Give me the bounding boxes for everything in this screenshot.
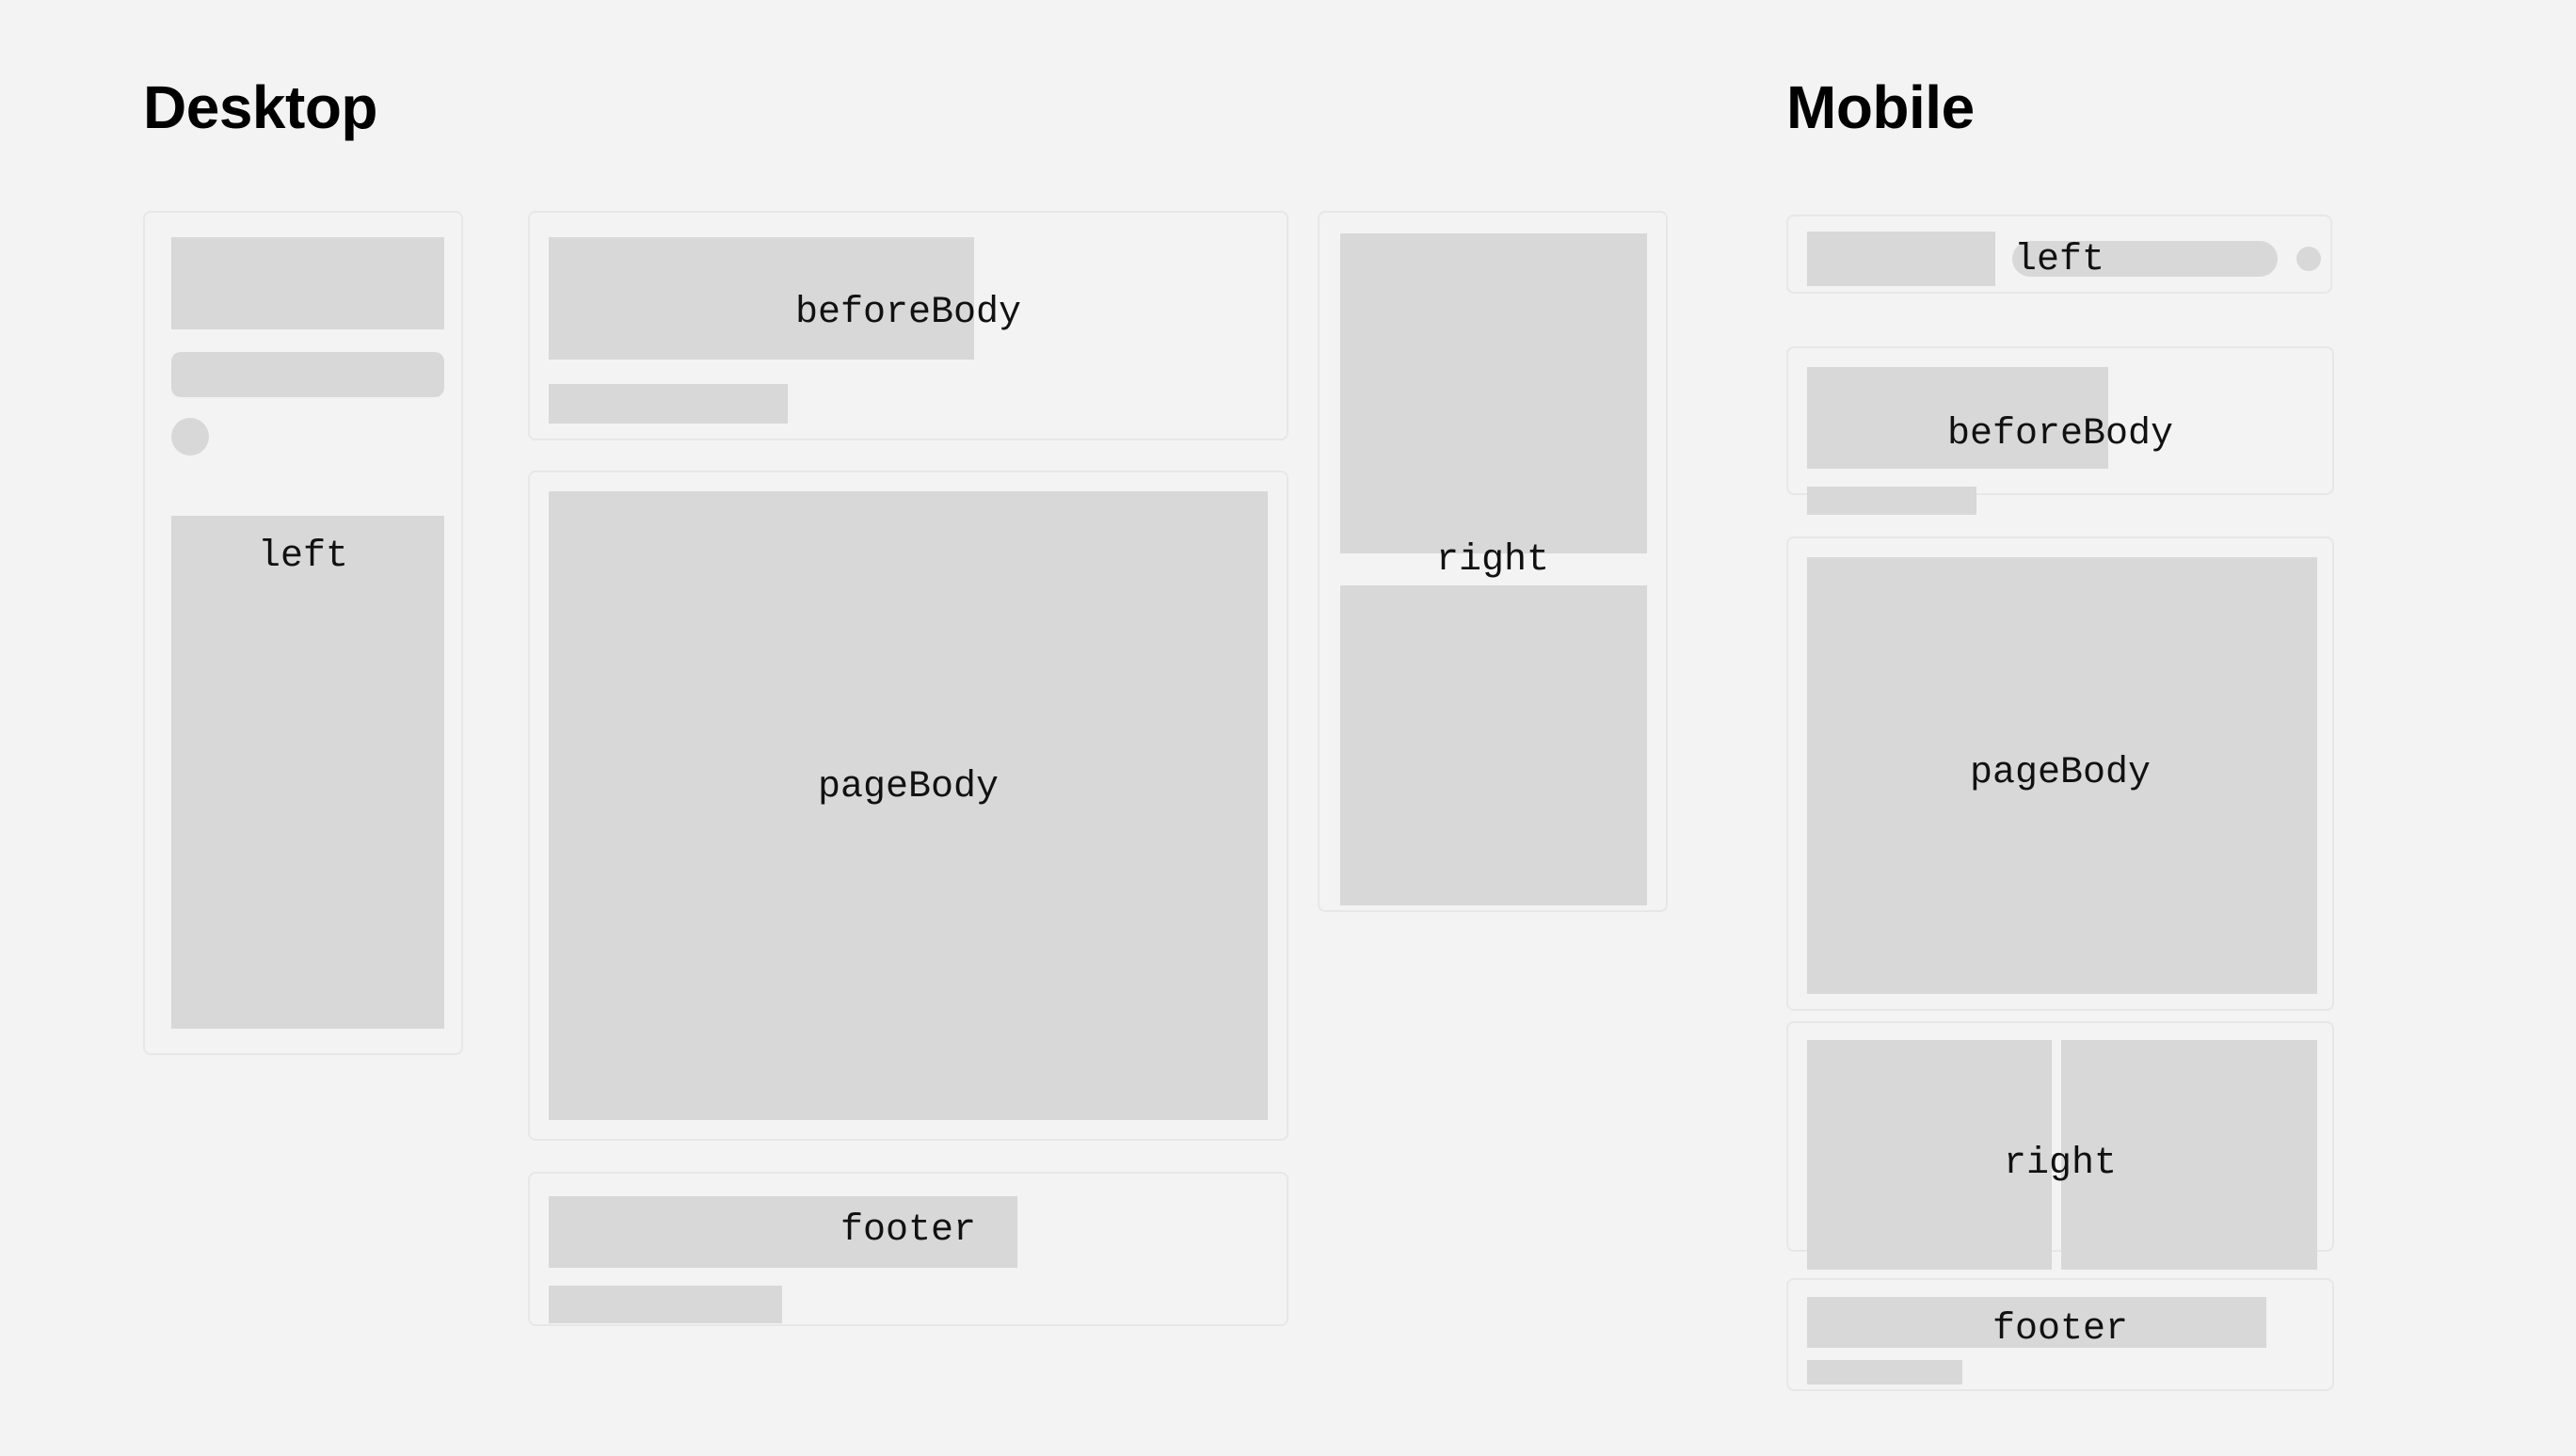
desktop-beforebody-panel[interactable] xyxy=(528,211,1288,440)
placeholder-block xyxy=(1807,557,2317,994)
mobile-beforebody-panel[interactable] xyxy=(1786,346,2334,495)
placeholder-block xyxy=(549,1196,1017,1268)
placeholder-avatar-circle xyxy=(171,418,209,456)
desktop-pagebody-panel[interactable] xyxy=(528,471,1288,1141)
mobile-right-panel[interactable] xyxy=(1786,1021,2334,1252)
desktop-left-panel[interactable] xyxy=(143,211,463,1055)
placeholder-block xyxy=(549,237,974,360)
placeholder-bar xyxy=(549,1286,782,1323)
placeholder-bar xyxy=(171,352,444,397)
desktop-right-panel[interactable] xyxy=(1318,211,1668,912)
placeholder-avatar-circle xyxy=(2296,247,2321,271)
mobile-left-panel[interactable] xyxy=(1786,215,2332,294)
desktop-section-title: Desktop xyxy=(143,77,377,137)
placeholder-block xyxy=(171,237,444,329)
placeholder-bar xyxy=(1807,1360,1962,1384)
placeholder-bar xyxy=(2012,241,2278,277)
mobile-pagebody-panel[interactable] xyxy=(1786,536,2334,1011)
placeholder-tall-block xyxy=(171,516,444,1029)
mobile-footer-panel[interactable] xyxy=(1786,1278,2334,1391)
placeholder-block xyxy=(1807,232,1995,286)
placeholder-block xyxy=(2061,1040,2317,1270)
placeholder-block xyxy=(549,491,1268,1120)
placeholder-block xyxy=(1340,233,1647,553)
placeholder-block xyxy=(1807,1297,2266,1348)
placeholder-bar xyxy=(549,384,788,424)
desktop-footer-panel[interactable] xyxy=(528,1172,1288,1326)
placeholder-bar xyxy=(1807,487,1976,515)
mobile-section-title: Mobile xyxy=(1786,77,1975,137)
placeholder-block xyxy=(1340,585,1647,905)
wireframe-canvas: Desktop left beforeBody pageBody footer … xyxy=(0,0,2576,1456)
placeholder-block xyxy=(1807,367,2108,469)
placeholder-block xyxy=(1807,1040,2052,1270)
